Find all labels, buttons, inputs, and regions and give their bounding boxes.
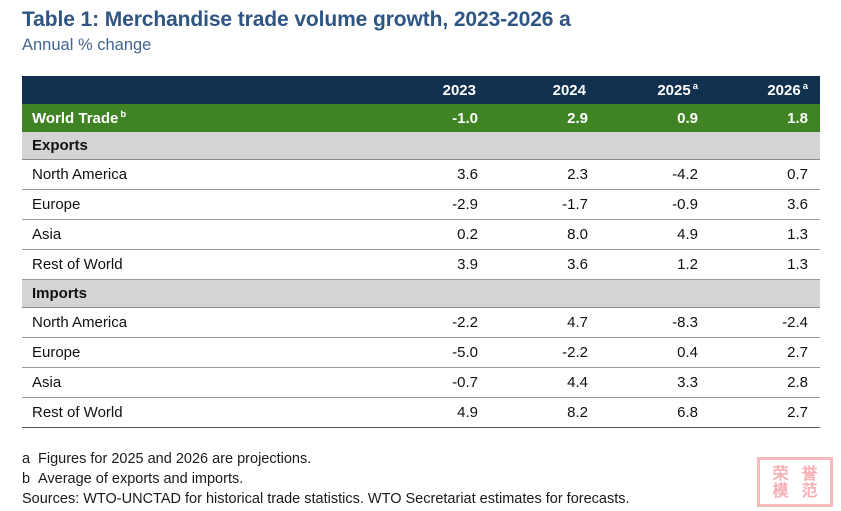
table-row: Europe -5.0 -2.2 0.4 2.7 bbox=[22, 338, 820, 368]
cell-exports-asia-2024: 8.0 bbox=[490, 220, 600, 250]
cell-exports-rest-of-world-2024: 3.6 bbox=[490, 250, 600, 280]
title-block: Table 1: Merchandise trade volume growth… bbox=[0, 0, 841, 55]
column-header-2024-text: 2024 bbox=[553, 82, 586, 99]
cell-world-trade-2025: 0.9 bbox=[600, 104, 710, 132]
row-label-imports-asia: Asia bbox=[22, 368, 380, 398]
cell-imports-asia-2025: 3.3 bbox=[600, 368, 710, 398]
cell-world-trade-2023: -1.0 bbox=[380, 104, 490, 132]
seal-char-3: 模 bbox=[766, 482, 795, 499]
row-label-world-trade: World Tradeb bbox=[22, 104, 380, 132]
cell-imports-north-america-2025: -8.3 bbox=[600, 308, 710, 338]
cell-exports-asia-2026: 1.3 bbox=[710, 220, 820, 250]
column-header-2023-text: 2023 bbox=[443, 82, 476, 99]
row-label-exports-asia: Asia bbox=[22, 220, 380, 250]
cell-imports-asia-2026: 2.8 bbox=[710, 368, 820, 398]
section-header-imports-label: Imports bbox=[22, 280, 820, 308]
column-header-2026: 2026a bbox=[710, 76, 820, 104]
trade-volume-table-wrapper: 2023 2024 2025a 2026a World Tradeb -1.0 … bbox=[22, 76, 820, 428]
cell-exports-north-america-2026: 0.7 bbox=[710, 160, 820, 190]
table-row: Asia 0.2 8.0 4.9 1.3 bbox=[22, 220, 820, 250]
cell-imports-rest-of-world-2023: 4.9 bbox=[380, 398, 490, 428]
table-row: Rest of World 4.9 8.2 6.8 2.7 bbox=[22, 398, 820, 428]
cell-exports-rest-of-world-2025: 1.2 bbox=[600, 250, 710, 280]
table-row: Rest of World 3.9 3.6 1.2 1.3 bbox=[22, 250, 820, 280]
row-label-imports-north-america: North America bbox=[22, 308, 380, 338]
column-header-2024: 2024 bbox=[490, 76, 600, 104]
cell-exports-asia-2023: 0.2 bbox=[380, 220, 490, 250]
cjk-seal-stamp-icon: 荣 誉 模 范 bbox=[757, 457, 833, 507]
column-header-2023: 2023 bbox=[380, 76, 490, 104]
footnote-b: bAverage of exports and imports. bbox=[22, 469, 782, 489]
trade-volume-table: 2023 2024 2025a 2026a World Tradeb -1.0 … bbox=[22, 76, 820, 428]
document-page: Table 1: Merchandise trade volume growth… bbox=[0, 0, 841, 511]
cell-imports-europe-2026: 2.7 bbox=[710, 338, 820, 368]
cell-imports-rest-of-world-2024: 8.2 bbox=[490, 398, 600, 428]
section-header-imports: Imports bbox=[22, 280, 820, 308]
cell-imports-europe-2025: 0.4 bbox=[600, 338, 710, 368]
table-row: Europe -2.9 -1.7 -0.9 3.6 bbox=[22, 190, 820, 220]
column-header-2025-sup: a bbox=[693, 81, 698, 92]
cell-exports-rest-of-world-2026: 1.3 bbox=[710, 250, 820, 280]
cell-imports-rest-of-world-2026: 2.7 bbox=[710, 398, 820, 428]
seal-char-1: 荣 bbox=[766, 465, 795, 482]
cell-exports-asia-2025: 4.9 bbox=[600, 220, 710, 250]
cell-imports-europe-2023: -5.0 bbox=[380, 338, 490, 368]
cell-exports-rest-of-world-2023: 3.9 bbox=[380, 250, 490, 280]
cell-exports-europe-2023: -2.9 bbox=[380, 190, 490, 220]
footnote-sources: Sources: WTO-UNCTAD for historical trade… bbox=[22, 489, 782, 509]
column-header-label bbox=[22, 76, 380, 104]
footnote-b-text: Average of exports and imports. bbox=[38, 471, 243, 487]
column-header-2025-text: 2025 bbox=[657, 82, 690, 99]
cell-world-trade-2026: 1.8 bbox=[710, 104, 820, 132]
column-header-2026-text: 2026 bbox=[767, 82, 800, 99]
cell-world-trade-2024: 2.9 bbox=[490, 104, 600, 132]
footnote-a: aFigures for 2025 and 2026 are projectio… bbox=[22, 449, 782, 469]
row-label-imports-rest-of-world: Rest of World bbox=[22, 398, 380, 428]
row-label-world-trade-sup: b bbox=[120, 109, 126, 120]
cell-exports-europe-2024: -1.7 bbox=[490, 190, 600, 220]
cell-exports-north-america-2025: -4.2 bbox=[600, 160, 710, 190]
cell-imports-north-america-2026: -2.4 bbox=[710, 308, 820, 338]
table-row-world-trade: World Tradeb -1.0 2.9 0.9 1.8 bbox=[22, 104, 820, 132]
footnote-a-text: Figures for 2025 and 2026 are projection… bbox=[38, 451, 311, 467]
table-row: North America -2.2 4.7 -8.3 -2.4 bbox=[22, 308, 820, 338]
footnote-a-marker: a bbox=[22, 449, 38, 469]
section-header-exports: Exports bbox=[22, 132, 820, 160]
table-header: 2023 2024 2025a 2026a bbox=[22, 76, 820, 104]
table-row: North America 3.6 2.3 -4.2 0.7 bbox=[22, 160, 820, 190]
cell-exports-north-america-2023: 3.6 bbox=[380, 160, 490, 190]
row-label-exports-north-america: North America bbox=[22, 160, 380, 190]
seal-characters: 荣 誉 模 范 bbox=[766, 465, 824, 499]
column-header-2026-sup: a bbox=[803, 81, 808, 92]
cell-imports-asia-2023: -0.7 bbox=[380, 368, 490, 398]
footnotes: aFigures for 2025 and 2026 are projectio… bbox=[22, 449, 782, 509]
table-header-row: 2023 2024 2025a 2026a bbox=[22, 76, 820, 104]
row-label-world-trade-text: World Trade bbox=[32, 110, 118, 127]
cell-imports-north-america-2024: 4.7 bbox=[490, 308, 600, 338]
column-header-2025: 2025a bbox=[600, 76, 710, 104]
seal-char-4: 范 bbox=[795, 482, 824, 499]
table-row: Asia -0.7 4.4 3.3 2.8 bbox=[22, 368, 820, 398]
cell-imports-rest-of-world-2025: 6.8 bbox=[600, 398, 710, 428]
row-label-imports-europe: Europe bbox=[22, 338, 380, 368]
cell-exports-europe-2026: 3.6 bbox=[710, 190, 820, 220]
row-label-exports-europe: Europe bbox=[22, 190, 380, 220]
page-title: Table 1: Merchandise trade volume growth… bbox=[22, 8, 841, 32]
row-label-exports-rest-of-world: Rest of World bbox=[22, 250, 380, 280]
cell-imports-asia-2024: 4.4 bbox=[490, 368, 600, 398]
seal-char-2: 誉 bbox=[795, 465, 824, 482]
table-body: World Tradeb -1.0 2.9 0.9 1.8 Exports No… bbox=[22, 104, 820, 428]
footnote-sources-text: Sources: WTO-UNCTAD for historical trade… bbox=[22, 491, 630, 507]
cell-exports-north-america-2024: 2.3 bbox=[490, 160, 600, 190]
cell-imports-north-america-2023: -2.2 bbox=[380, 308, 490, 338]
footnote-b-marker: b bbox=[22, 469, 38, 489]
cell-imports-europe-2024: -2.2 bbox=[490, 338, 600, 368]
section-header-exports-label: Exports bbox=[22, 132, 820, 160]
cell-exports-europe-2025: -0.9 bbox=[600, 190, 710, 220]
page-subtitle: Annual % change bbox=[22, 35, 841, 55]
